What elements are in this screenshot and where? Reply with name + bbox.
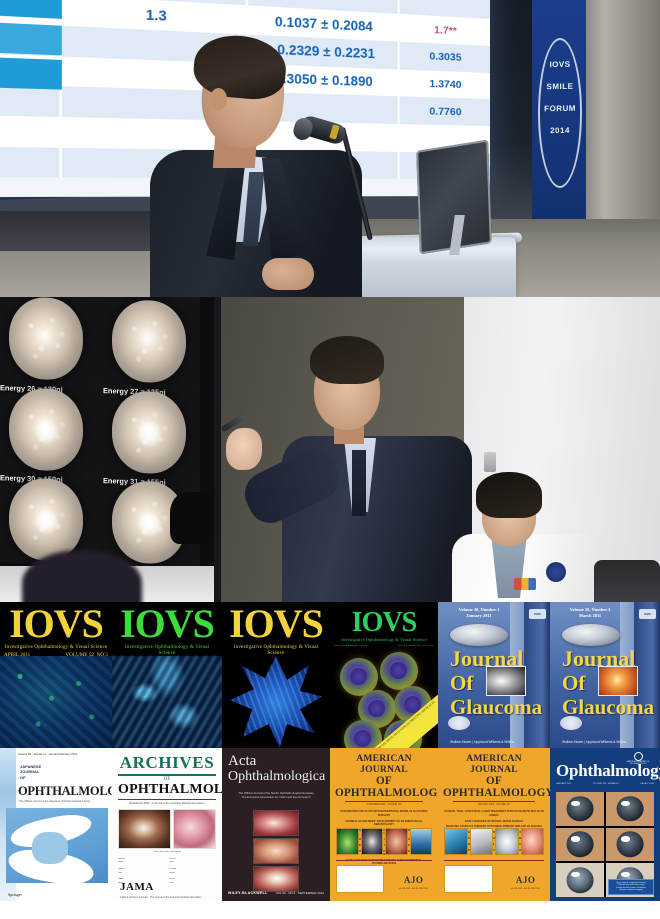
issue-pages: PAGES 1-200 xyxy=(640,783,654,785)
lecturer-and-assistant-photo xyxy=(214,297,660,602)
cover-edge xyxy=(524,602,550,748)
retina-flatmount-shape xyxy=(230,656,322,748)
journal-title-line2: OF OPHTHALMOLOGY xyxy=(335,775,433,799)
issue-date: January 2011 xyxy=(466,613,491,618)
publisher-name: Wolters Kluwer | Lippincott Williams & W… xyxy=(450,740,514,744)
ophthalmology-aao-cover[interactable]: AMERICAN ACADEMY OF OPHTHALMOLOGY Ophtha… xyxy=(550,748,660,901)
archives-of-ophthalmology-cover[interactable]: ARCHIVES OF OPHTHALMOLOGY Established 18… xyxy=(112,748,222,901)
cover-image-2 xyxy=(253,838,299,864)
speaker-figure xyxy=(150,22,380,297)
journal-covers-grid: IOVS Investigative Ophthalmology & Visua… xyxy=(0,602,660,901)
eye-graphic xyxy=(562,624,620,646)
legend-line-4: Anterior segment imaging xyxy=(611,889,651,892)
acta-ophthalmologica-cover[interactable]: Acta Ophthalmologica The Official Journa… xyxy=(222,748,330,901)
cover-image-3 xyxy=(253,866,299,892)
lecturer-tie xyxy=(352,450,366,516)
brand-publisher: ELSEVIER · AJONLINE.ORG xyxy=(399,888,428,891)
society-name: AMERICAN ACADEMY OF OPHTHALMOLOGY xyxy=(621,761,655,766)
journal-subtitle: Investigative Ophthalmology & Visual Sci… xyxy=(226,644,326,656)
toc-column-right: ▪▪▪▪▪▪▪▪▪▪▪▪▪▪▪▪▪▪▪▪▪▪▪▪▪▪▪▪▪▪▪▪▪▪▪▪▪ xyxy=(170,857,217,884)
issue-info: NOVEMBER 2009 · VOLUME 148 xyxy=(335,804,433,806)
brand-acronym: AJO xyxy=(516,875,536,885)
journal-tagline: The Official Journal of the Japanese Oph… xyxy=(19,800,107,803)
eye-photo xyxy=(556,792,604,826)
journal-title-line2: Of xyxy=(450,672,473,694)
brand-publisher: ELSEVIER · AJONLINE.ORG xyxy=(511,888,540,891)
issue-info: VOL 90 · NO 6 · SEPTEMBER 2012 xyxy=(276,891,324,895)
toc-item: EARLY MARKERS OF RETINAL NERVE DAMAGE xyxy=(443,820,545,823)
journal-title: IOVS xyxy=(116,606,218,643)
divider xyxy=(453,801,535,802)
cover-image-thumbnail xyxy=(598,666,638,696)
laser-cell xyxy=(0,297,97,384)
cover-images xyxy=(253,810,299,892)
publisher-name: Springer xyxy=(8,892,22,897)
publisher-mark xyxy=(448,716,470,730)
toc-item: CLINICAL TRIAL: HOW FOCAL LASER TREATMEN… xyxy=(443,810,545,817)
cover-artwork xyxy=(112,656,222,748)
journal-title-line1: ARCHIVES xyxy=(118,754,216,772)
pointing-hand-silhouette xyxy=(170,492,212,544)
journal-title-line2: OF OPHTHALMOLOGY xyxy=(443,775,545,799)
wall-edge xyxy=(214,297,221,602)
journal-title-line3: Glaucoma xyxy=(562,696,654,718)
cover-artwork: SPECIAL ISSUE ARVO ANNUAL MEETING ABSTRA… xyxy=(330,646,438,748)
journal-title: OPHTHALMOLOGY xyxy=(18,784,108,799)
p-value: 0.3035 xyxy=(429,51,461,65)
image-caption: Cover illustration and legend xyxy=(118,851,216,853)
laser-spot xyxy=(9,387,83,471)
lecturer-hair xyxy=(310,336,384,384)
journal-of-glaucoma-cover-1[interactable]: Volume 20, Number 1 January 2011 DVD Jou… xyxy=(438,602,550,748)
research-collage: 0.075 ± 0.2722 0.0452 ± 0.2057 0.896 -0.… xyxy=(0,0,660,919)
toc-item: PARAMETERS FOR ACUTE INTRAOPERATIONAL MO… xyxy=(335,810,433,817)
p-value: 1.3740 xyxy=(429,78,461,91)
va-header-cell: VA xyxy=(0,0,62,19)
cover-image-thumbnail xyxy=(486,666,526,696)
journal-subtitle: Investigative Ophthalmology & Visual Sci… xyxy=(4,644,108,650)
banner-logo-text: IOVS SMILE FORUM 2014 xyxy=(539,54,581,143)
mailing-label-area xyxy=(444,865,493,893)
divider xyxy=(336,860,432,861)
american-journal-of-ophthalmology-cover-2[interactable]: AMERICAN JOURNAL OF OPHTHALMOLOGY JANUAR… xyxy=(438,748,550,901)
journal-title-line1: AMERICAN JOURNAL xyxy=(443,753,545,775)
journal-title: IOVS xyxy=(334,610,434,636)
iovs-cover-1[interactable]: IOVS Investigative Ophthalmology & Visua… xyxy=(0,602,112,748)
journal-title-line1: AMERICAN JOURNAL xyxy=(335,753,433,775)
p-value: 0.7760 xyxy=(429,105,461,118)
issue-volume: VOLUME 118 · NUMBER 1 xyxy=(593,783,620,785)
journal-title-line1: Acta xyxy=(228,754,324,769)
cover-artwork xyxy=(0,656,112,748)
iovs-cover-3[interactable]: IOVS Investigative Ophthalmology & Visua… xyxy=(222,602,330,748)
publisher-subtitle: JAMA & Archives Journals · The Journal o… xyxy=(120,896,202,899)
journal-brand: AJO ELSEVIER · AJONLINE.ORG xyxy=(399,870,428,891)
eye-graphic xyxy=(450,624,508,646)
cover-images xyxy=(118,809,216,849)
issue-info: Established 1869 · A Journal of the Amer… xyxy=(118,802,216,805)
eye-photo xyxy=(556,828,604,862)
laser-spot xyxy=(112,390,186,474)
publisher-name: Wolters Kluwer | Lippincott Williams & W… xyxy=(562,740,626,744)
speaker-hands xyxy=(262,258,314,290)
journal-title: IOVS xyxy=(4,606,108,643)
dvd-badge: DVD xyxy=(639,609,656,619)
issue-date: JANUARY 2011 xyxy=(556,783,571,785)
cover-artwork xyxy=(6,808,108,883)
p-value: 1.7** xyxy=(434,24,457,37)
laser-energy-slide-photo: Energy 26 = 130nj Energy 27 = 135nj Ener… xyxy=(0,297,214,602)
issue-date: March 2011 xyxy=(579,613,601,618)
publisher-name: WILEY-BLACKWELL xyxy=(228,891,268,895)
cover-image-histology xyxy=(173,809,216,849)
japanese-journal-of-ophthalmology-cover[interactable]: Volume 55 · Number 1 · January/February … xyxy=(0,748,112,901)
laser-cell: Energy 26 = 130nj xyxy=(0,381,97,475)
dvd-badge: DVD xyxy=(529,609,546,619)
kicker-line1: JAPANESE xyxy=(20,764,41,769)
chair xyxy=(594,560,660,602)
cover-artwork xyxy=(222,656,330,748)
assistant-lab-coat xyxy=(452,534,602,602)
divider xyxy=(118,799,216,800)
cover-thumbnails xyxy=(444,828,544,855)
laser-spot xyxy=(9,297,83,381)
eye-photo xyxy=(606,828,654,862)
cover-image-1 xyxy=(253,810,299,836)
speaker-ear xyxy=(210,88,227,110)
assistant-hair xyxy=(476,472,542,518)
seal-circle-icon xyxy=(634,752,643,761)
kicker-line3: OF xyxy=(20,775,26,780)
brand-acronym: AJO xyxy=(404,875,424,885)
conference-podium-photo: 0.075 ± 0.2722 0.0452 ± 0.2057 0.896 -0.… xyxy=(0,0,660,297)
event-banner: IOVS SMILE FORUM 2014 xyxy=(532,0,588,229)
cover-legend-box: Cover legend: congenital cataract Pupil-… xyxy=(608,879,654,895)
journal-title: IOVS xyxy=(226,606,326,643)
laser-cell xyxy=(97,297,200,387)
laser-cell: Energy 27 = 135nj xyxy=(97,384,200,478)
journal-tagline-line2: The European Association for Vision and … xyxy=(242,795,311,799)
journal-subtitle: Investigative Ophthalmology & Visual Sci… xyxy=(334,637,434,642)
divider xyxy=(118,774,216,776)
issue-info: Volume 55 · Number 1 · January/February … xyxy=(18,752,77,756)
american-journal-of-ophthalmology-cover-1[interactable]: AMERICAN JOURNAL OF OPHTHALMOLOGY NOVEMB… xyxy=(330,748,438,901)
va-band-3 xyxy=(0,54,62,89)
publisher-mark xyxy=(560,716,582,730)
journal-title-line2: Of xyxy=(562,672,585,694)
divider xyxy=(345,801,423,802)
journal-of-glaucoma-cover-2[interactable]: Volume 20, Number 3 March 2011 DVD Journ… xyxy=(550,602,660,748)
journal-title-line3: Glaucoma xyxy=(450,696,542,718)
lecturer-hand xyxy=(226,428,262,470)
eye-photo xyxy=(556,863,604,897)
mid-photo-row: Energy 26 = 130nj Energy 27 = 135nj Ener… xyxy=(0,297,660,602)
journal-title-line2: OPHTHALMOLOGY xyxy=(118,782,216,797)
journal-subtitle: Investigative Ophthalmology & Visual Sci… xyxy=(116,644,218,656)
iovs-cover-4[interactable]: SPECIAL ISSUE ARVO ANNUAL MEETING ABSTRA… xyxy=(330,602,438,748)
hospital-emblem xyxy=(546,562,566,582)
laser-spot xyxy=(112,300,186,384)
issue-volume: Volume 20, Number 1 xyxy=(459,607,500,612)
id-badge xyxy=(514,578,536,590)
aao-seal: AMERICAN ACADEMY OF OPHTHALMOLOGY xyxy=(621,752,655,766)
journal-title-line2: Ophthalmologica xyxy=(228,769,324,785)
iovs-cover-2[interactable]: IOVS Investigative Ophthalmology & Visua… xyxy=(112,602,222,748)
toc-item: CORNEAL ULCER INDEX: DEVELOPMENT OF AN E… xyxy=(335,820,433,827)
journal-brand: AJO ELSEVIER · AJONLINE.ORG xyxy=(511,870,540,891)
mailing-label-area xyxy=(336,865,384,893)
divider xyxy=(444,860,544,861)
cover-thumbnails xyxy=(336,828,432,855)
publisher-name: JAMA xyxy=(120,881,154,893)
kicker-line2: JOURNAL xyxy=(20,769,39,774)
cover-image-eye xyxy=(118,809,171,849)
issue-info: JANUARY 2009 · VOLUME 147 xyxy=(443,804,545,806)
eye-photo xyxy=(606,792,654,826)
issue-volume: Volume 20, Number 3 xyxy=(570,607,611,612)
